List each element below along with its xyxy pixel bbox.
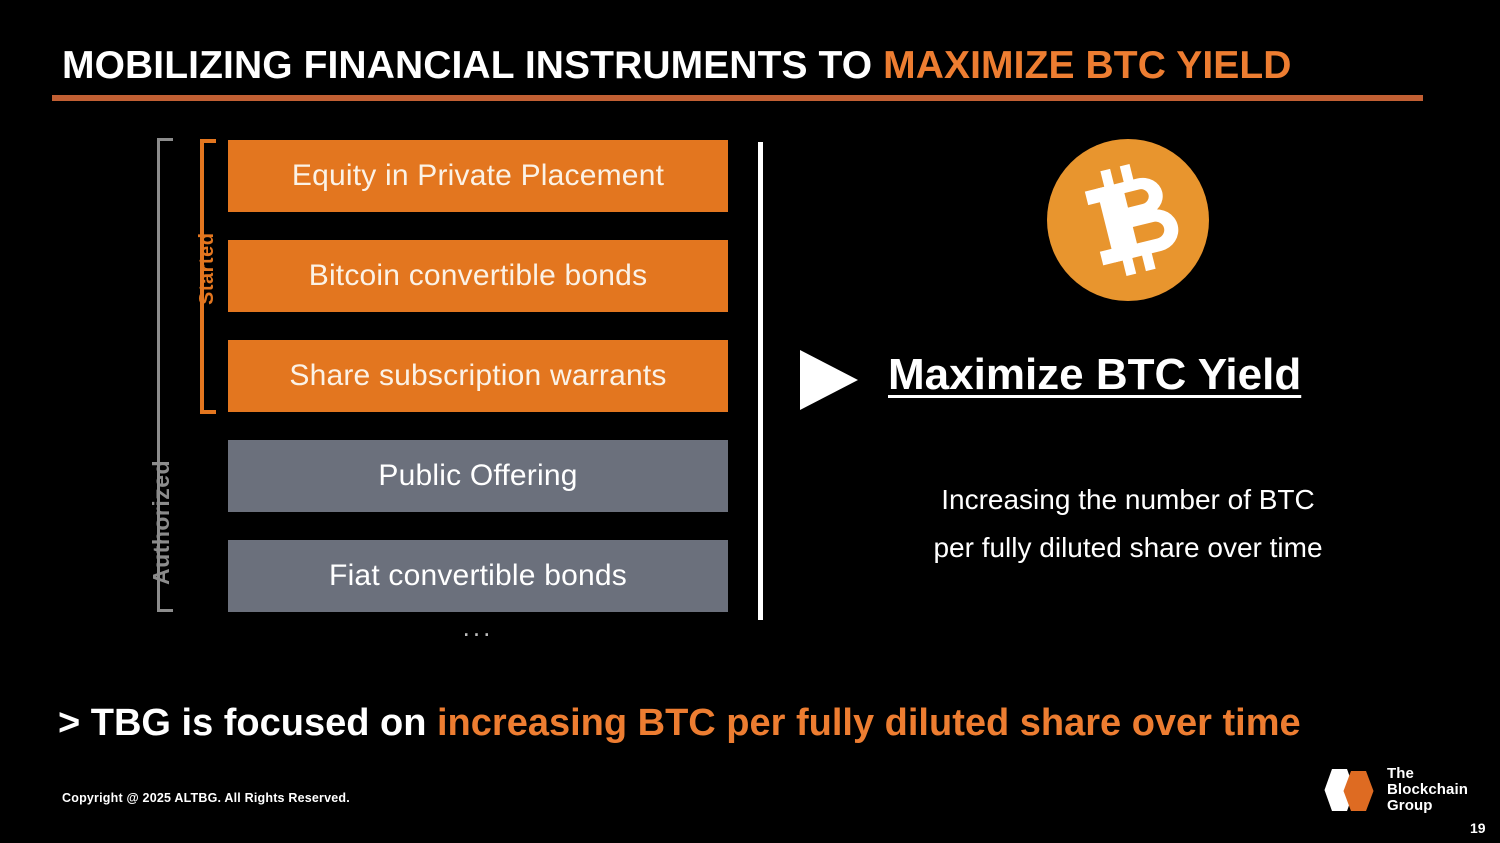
- instrument-stack: Equity in Private Placement Bitcoin conv…: [228, 140, 728, 640]
- play-triangle-icon: [800, 350, 858, 410]
- bottom-statement: > TBG is focused on increasing BTC per f…: [58, 702, 1301, 745]
- company-logo-text: The Blockchain Group: [1387, 766, 1468, 814]
- copyright-text: Copyright @ 2025 ALTBG. All Rights Reser…: [62, 791, 350, 805]
- page-title: MOBILIZING FINANCIAL INSTRUMENTS TO MAXI…: [62, 44, 1292, 88]
- started-label: Started: [196, 233, 219, 305]
- instrument-box-fiat-convertible-bonds[interactable]: Fiat convertible bonds: [228, 540, 728, 612]
- vertical-divider: [758, 142, 763, 620]
- company-logo: The Blockchain Group: [1318, 765, 1468, 815]
- instrument-box-share-subscription-warrants[interactable]: Share subscription warrants: [228, 340, 728, 412]
- page-title-accent: MAXIMIZE BTC YIELD: [883, 44, 1291, 87]
- slide-root: MOBILIZING FINANCIAL INSTRUMENTS TO MAXI…: [0, 0, 1500, 843]
- page-number: 19: [1470, 820, 1486, 836]
- instrument-box-bitcoin-convertible-bonds[interactable]: Bitcoin convertible bonds: [228, 240, 728, 312]
- page-title-main: MOBILIZING FINANCIAL INSTRUMENTS TO: [62, 44, 883, 87]
- instrument-label: Public Offering: [378, 459, 577, 493]
- company-logo-line-3: Group: [1387, 798, 1468, 814]
- bottom-statement-prefix: > TBG is focused on: [58, 702, 437, 744]
- right-subtext: Increasing the number of BTC per fully d…: [848, 476, 1408, 572]
- company-logo-line-2: Blockchain: [1387, 782, 1468, 798]
- title-underline-rule: [52, 95, 1423, 101]
- right-subtext-line-1: Increasing the number of BTC: [848, 476, 1408, 524]
- ellipsis-more-indicator: ...: [228, 612, 728, 643]
- instrument-label: Equity in Private Placement: [292, 159, 664, 193]
- authorized-label: Authorized: [148, 460, 175, 585]
- bottom-statement-accent: increasing BTC per fully diluted share o…: [437, 702, 1301, 744]
- company-logo-line-1: The: [1387, 766, 1468, 782]
- instrument-box-public-offering[interactable]: Public Offering: [228, 440, 728, 512]
- right-subtext-line-2: per fully diluted share over time: [848, 524, 1408, 572]
- instrument-label: Share subscription warrants: [289, 359, 666, 393]
- logo-hexagons-icon: [1318, 765, 1380, 815]
- right-headline: Maximize BTC Yield: [888, 350, 1301, 400]
- instrument-label: Fiat convertible bonds: [329, 559, 627, 593]
- bitcoin-icon: [1047, 139, 1209, 301]
- instrument-box-equity-private-placement[interactable]: Equity in Private Placement: [228, 140, 728, 212]
- instrument-label: Bitcoin convertible bonds: [309, 259, 648, 293]
